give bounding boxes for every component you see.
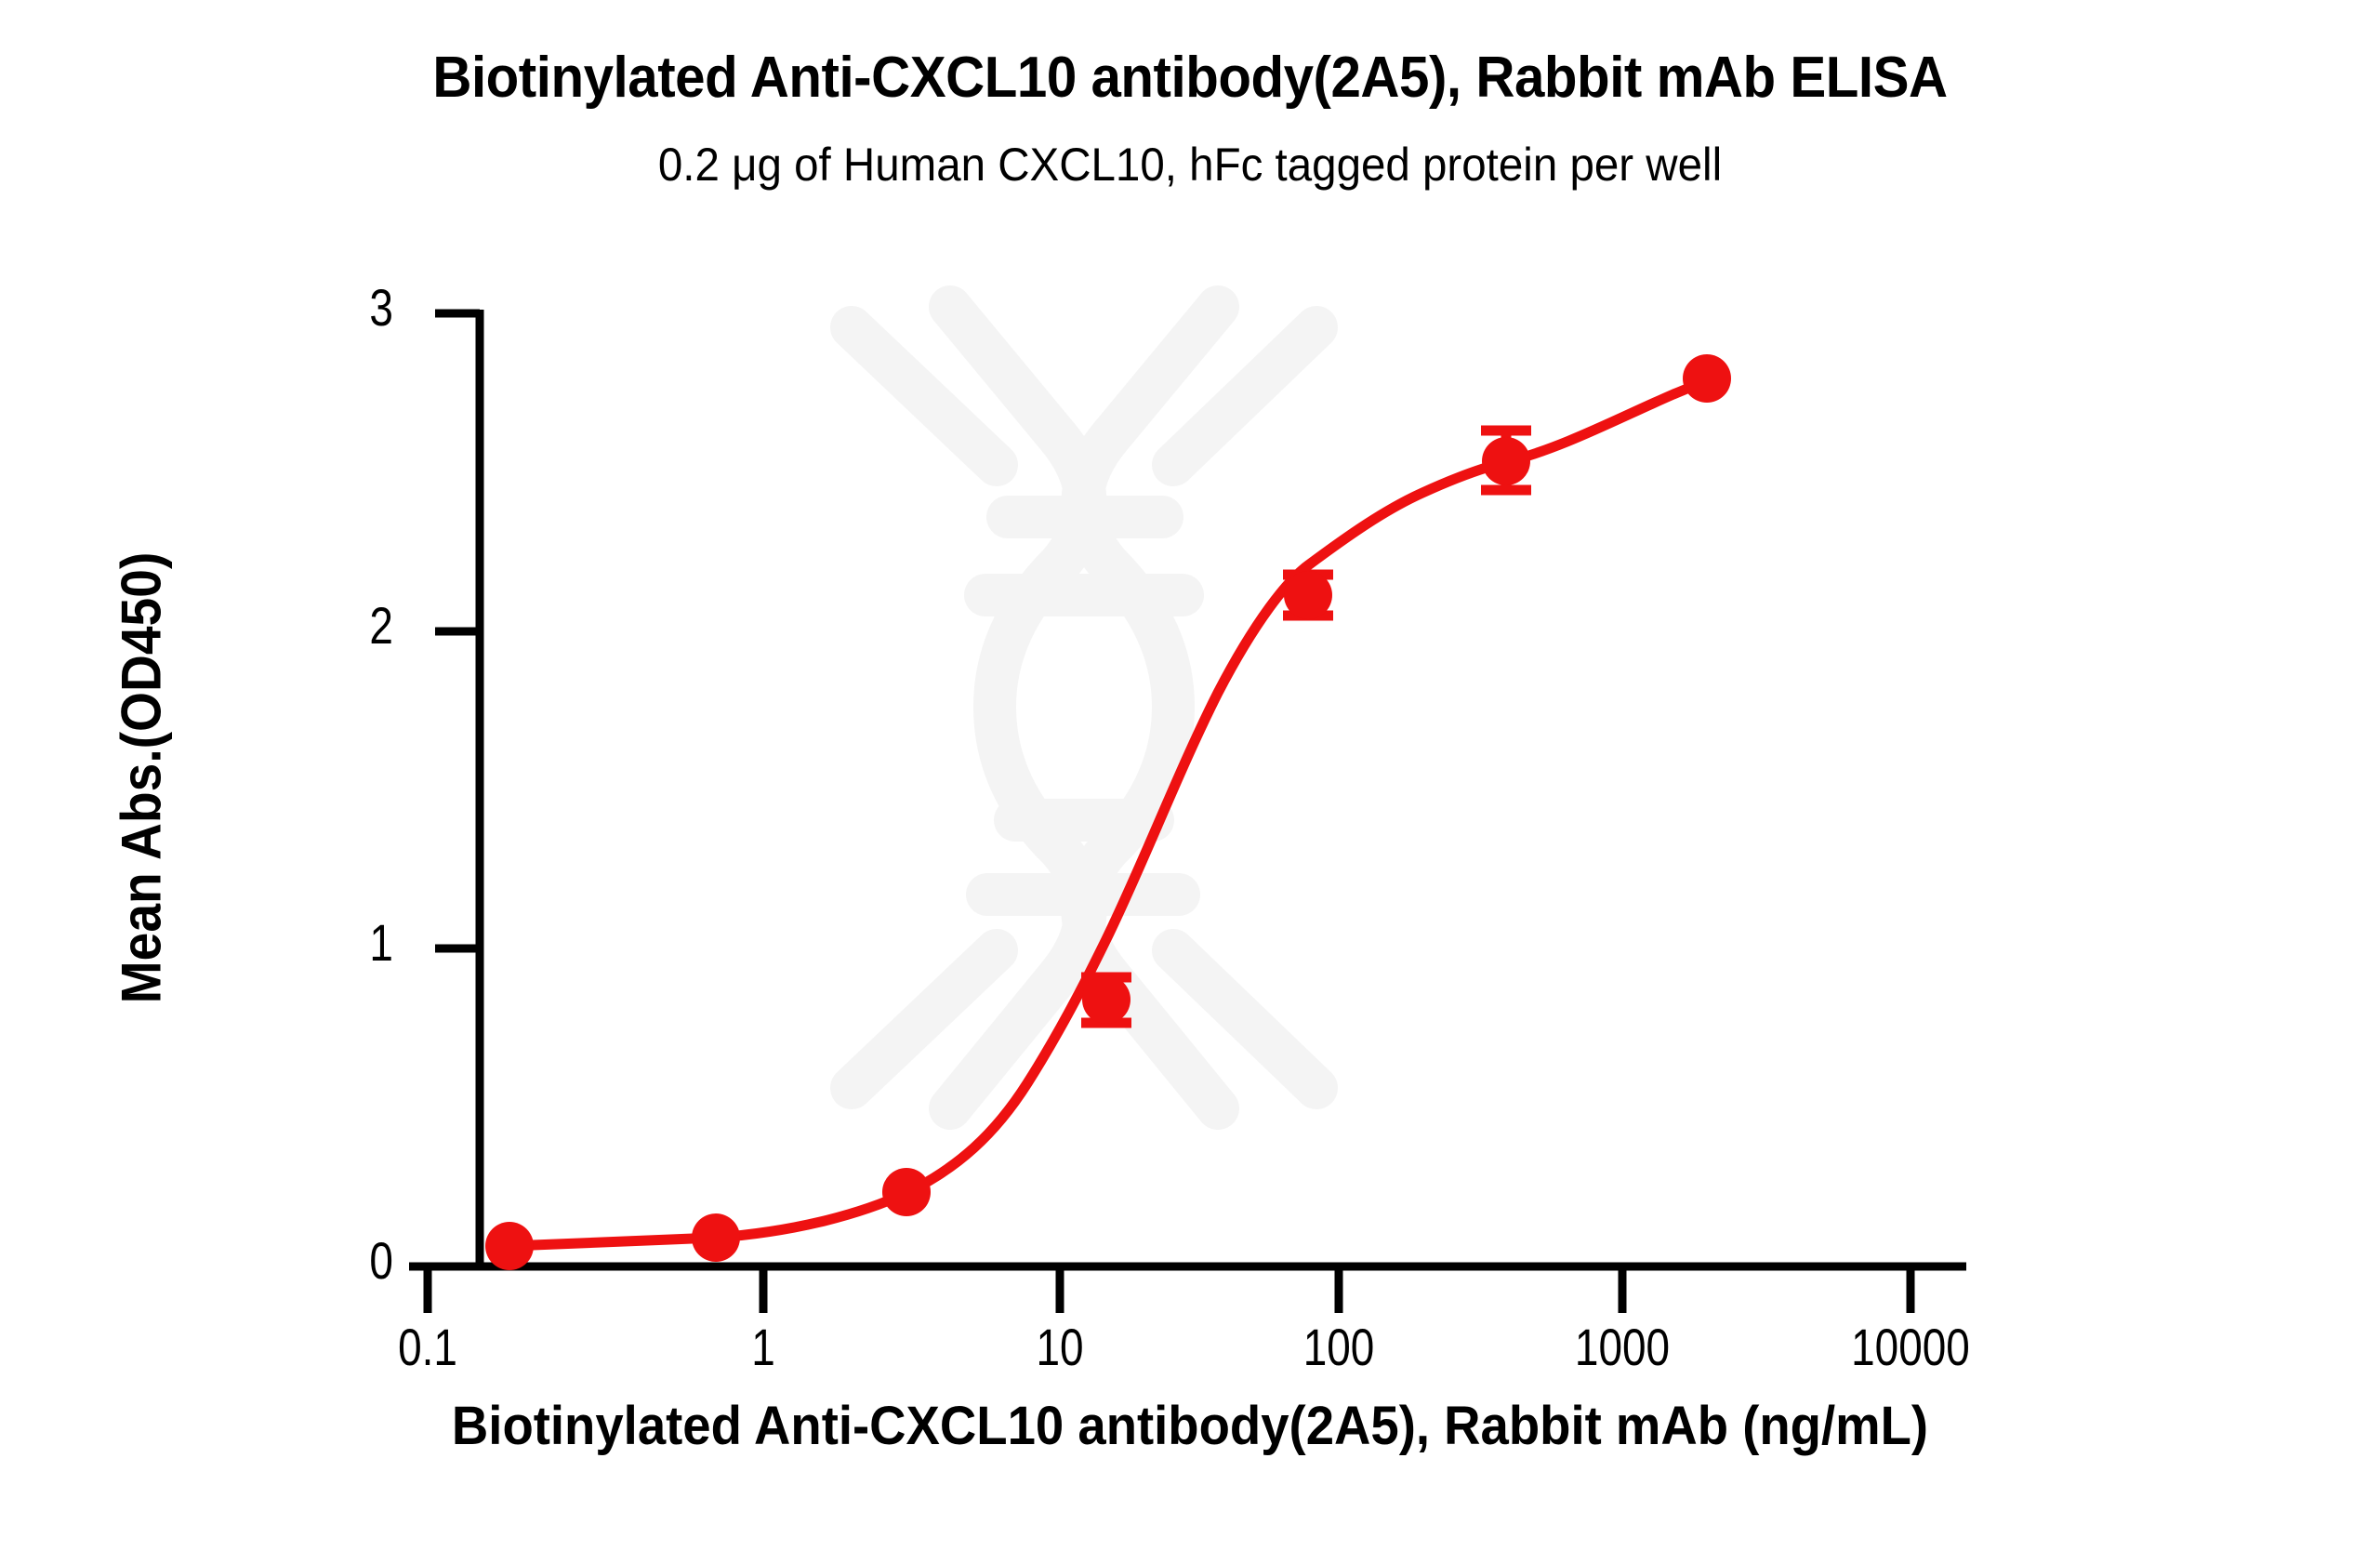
- y-tick-label-1: 1: [248, 912, 393, 973]
- data-point: [1683, 354, 1731, 403]
- x-tick-label-100: 100: [1186, 1317, 1491, 1377]
- y-tick-label-3: 3: [248, 277, 393, 338]
- plot-area: 3 2 1 0 0.1 1 10 100 1000 10000: [0, 0, 2380, 1551]
- x-tick-label-0.1: 0.1: [275, 1317, 580, 1377]
- x-tick-label-10: 10: [907, 1317, 1212, 1377]
- data-point: [485, 1222, 534, 1270]
- x-axis-ticks: [428, 1266, 1911, 1313]
- x-tick-label-1: 1: [611, 1317, 916, 1377]
- y-axis-ticks: [435, 313, 480, 1266]
- data-point: [882, 1168, 931, 1216]
- x-tick-label-1000: 1000: [1470, 1317, 1775, 1377]
- chart-figure: Biotinylated Anti-CXCL10 antibody(2A5), …: [0, 0, 2380, 1551]
- x-axis-label: Biotinylated Anti-CXCL10 antibody(2A5), …: [72, 1395, 2308, 1457]
- x-tick-label-10000: 10000: [1758, 1317, 2063, 1377]
- data-point: [1082, 975, 1130, 1024]
- y-axis-label: Mean Abs.(OD450): [110, 479, 174, 1078]
- data-point: [1482, 437, 1530, 485]
- y-tick-label-2: 2: [248, 595, 393, 656]
- data-point: [1284, 571, 1332, 619]
- y-tick-label-0: 0: [248, 1230, 393, 1291]
- data-point: [692, 1213, 740, 1262]
